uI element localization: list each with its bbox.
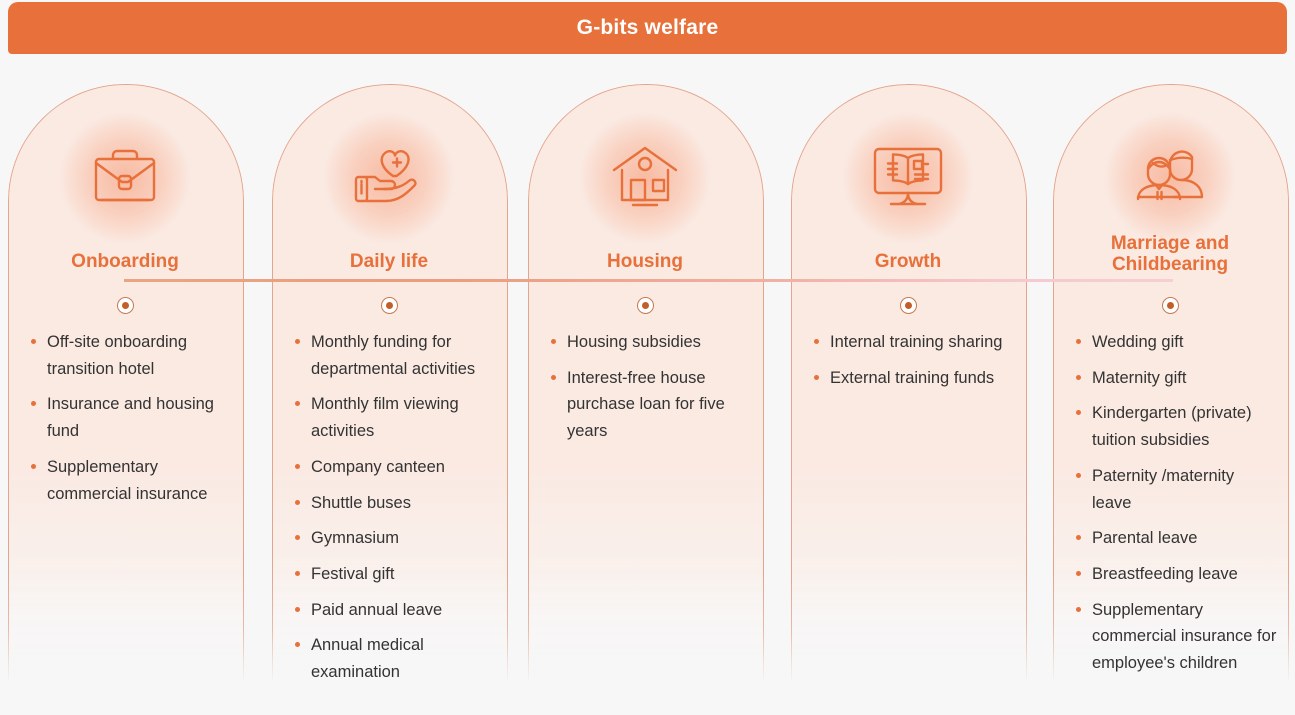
list-item: External training funds: [809, 365, 1015, 392]
list-item: Housing subsidies: [546, 329, 752, 356]
column-title: Onboarding: [14, 252, 236, 273]
timeline-marker[interactable]: [117, 297, 134, 314]
list-item: Shuttle buses: [290, 490, 496, 517]
list-item: Supplementary commercial insurance for e…: [1071, 597, 1277, 677]
timeline-marker[interactable]: [381, 297, 398, 314]
list-item: Parental leave: [1071, 525, 1277, 552]
column-marriage-and-childbearing[interactable]: Marriage and Childbearing Wedding gift M…: [1053, 84, 1287, 684]
timeline-connector-line: [124, 279, 1173, 282]
column-daily-life[interactable]: Daily life Monthly funding for departmen…: [272, 84, 506, 684]
column-housing[interactable]: Housing Housing subsidies Interest-free …: [528, 84, 762, 684]
briefcase-icon: [82, 134, 168, 220]
column-title: Growth: [797, 252, 1019, 273]
timeline-marker[interactable]: [900, 297, 917, 314]
column-title: Marriage and Childbearing: [1059, 234, 1281, 276]
list-item: Gymnasium: [290, 525, 496, 552]
timeline-marker[interactable]: [1162, 297, 1179, 314]
list-item: Festival gift: [290, 561, 496, 588]
list-item: Breastfeeding leave: [1071, 561, 1277, 588]
list-item: Interest-free house purchase loan for fi…: [546, 365, 752, 445]
benefit-list: Internal training sharing External train…: [809, 329, 1015, 400]
list-item: Company canteen: [290, 454, 496, 481]
list-item: Wedding gift: [1071, 329, 1277, 356]
house-icon: [602, 134, 688, 220]
benefit-list: Monthly funding for departmental activit…: [290, 329, 496, 695]
header-banner: G-bits welfare: [8, 2, 1287, 54]
list-item: Insurance and housing fund: [26, 391, 232, 444]
list-item: Kindergarten (private) tuition subsidies: [1071, 400, 1277, 453]
list-item: Paid annual leave: [290, 597, 496, 624]
welfare-board: Onboarding Off-site onboarding transitio…: [0, 58, 1295, 715]
benefit-list: Wedding gift Maternity gift Kindergarten…: [1071, 329, 1277, 686]
list-item: Internal training sharing: [809, 329, 1015, 356]
monitor-book-icon: [865, 134, 951, 220]
list-item: Supplementary commercial insurance: [26, 454, 232, 507]
page-title: G-bits welfare: [577, 16, 719, 40]
list-item: Annual medical examination: [290, 632, 496, 685]
benefit-list: Housing subsidies Interest-free house pu…: [546, 329, 752, 454]
couple-icon: [1127, 134, 1213, 220]
list-item: Maternity gift: [1071, 365, 1277, 392]
column-title: Daily life: [278, 252, 500, 273]
list-item: Monthly funding for departmental activit…: [290, 329, 496, 382]
hand-heart-care-icon: [346, 134, 432, 220]
column-onboarding[interactable]: Onboarding Off-site onboarding transitio…: [8, 84, 242, 684]
list-item: Off-site onboarding transition hotel: [26, 329, 232, 382]
list-item: Paternity /maternity leave: [1071, 463, 1277, 516]
column-title: Housing: [534, 252, 756, 273]
column-growth[interactable]: Growth Internal training sharing Externa…: [791, 84, 1025, 684]
list-item: Monthly film viewing activities: [290, 391, 496, 444]
timeline-marker[interactable]: [637, 297, 654, 314]
benefit-list: Off-site onboarding transition hotel Ins…: [26, 329, 232, 516]
